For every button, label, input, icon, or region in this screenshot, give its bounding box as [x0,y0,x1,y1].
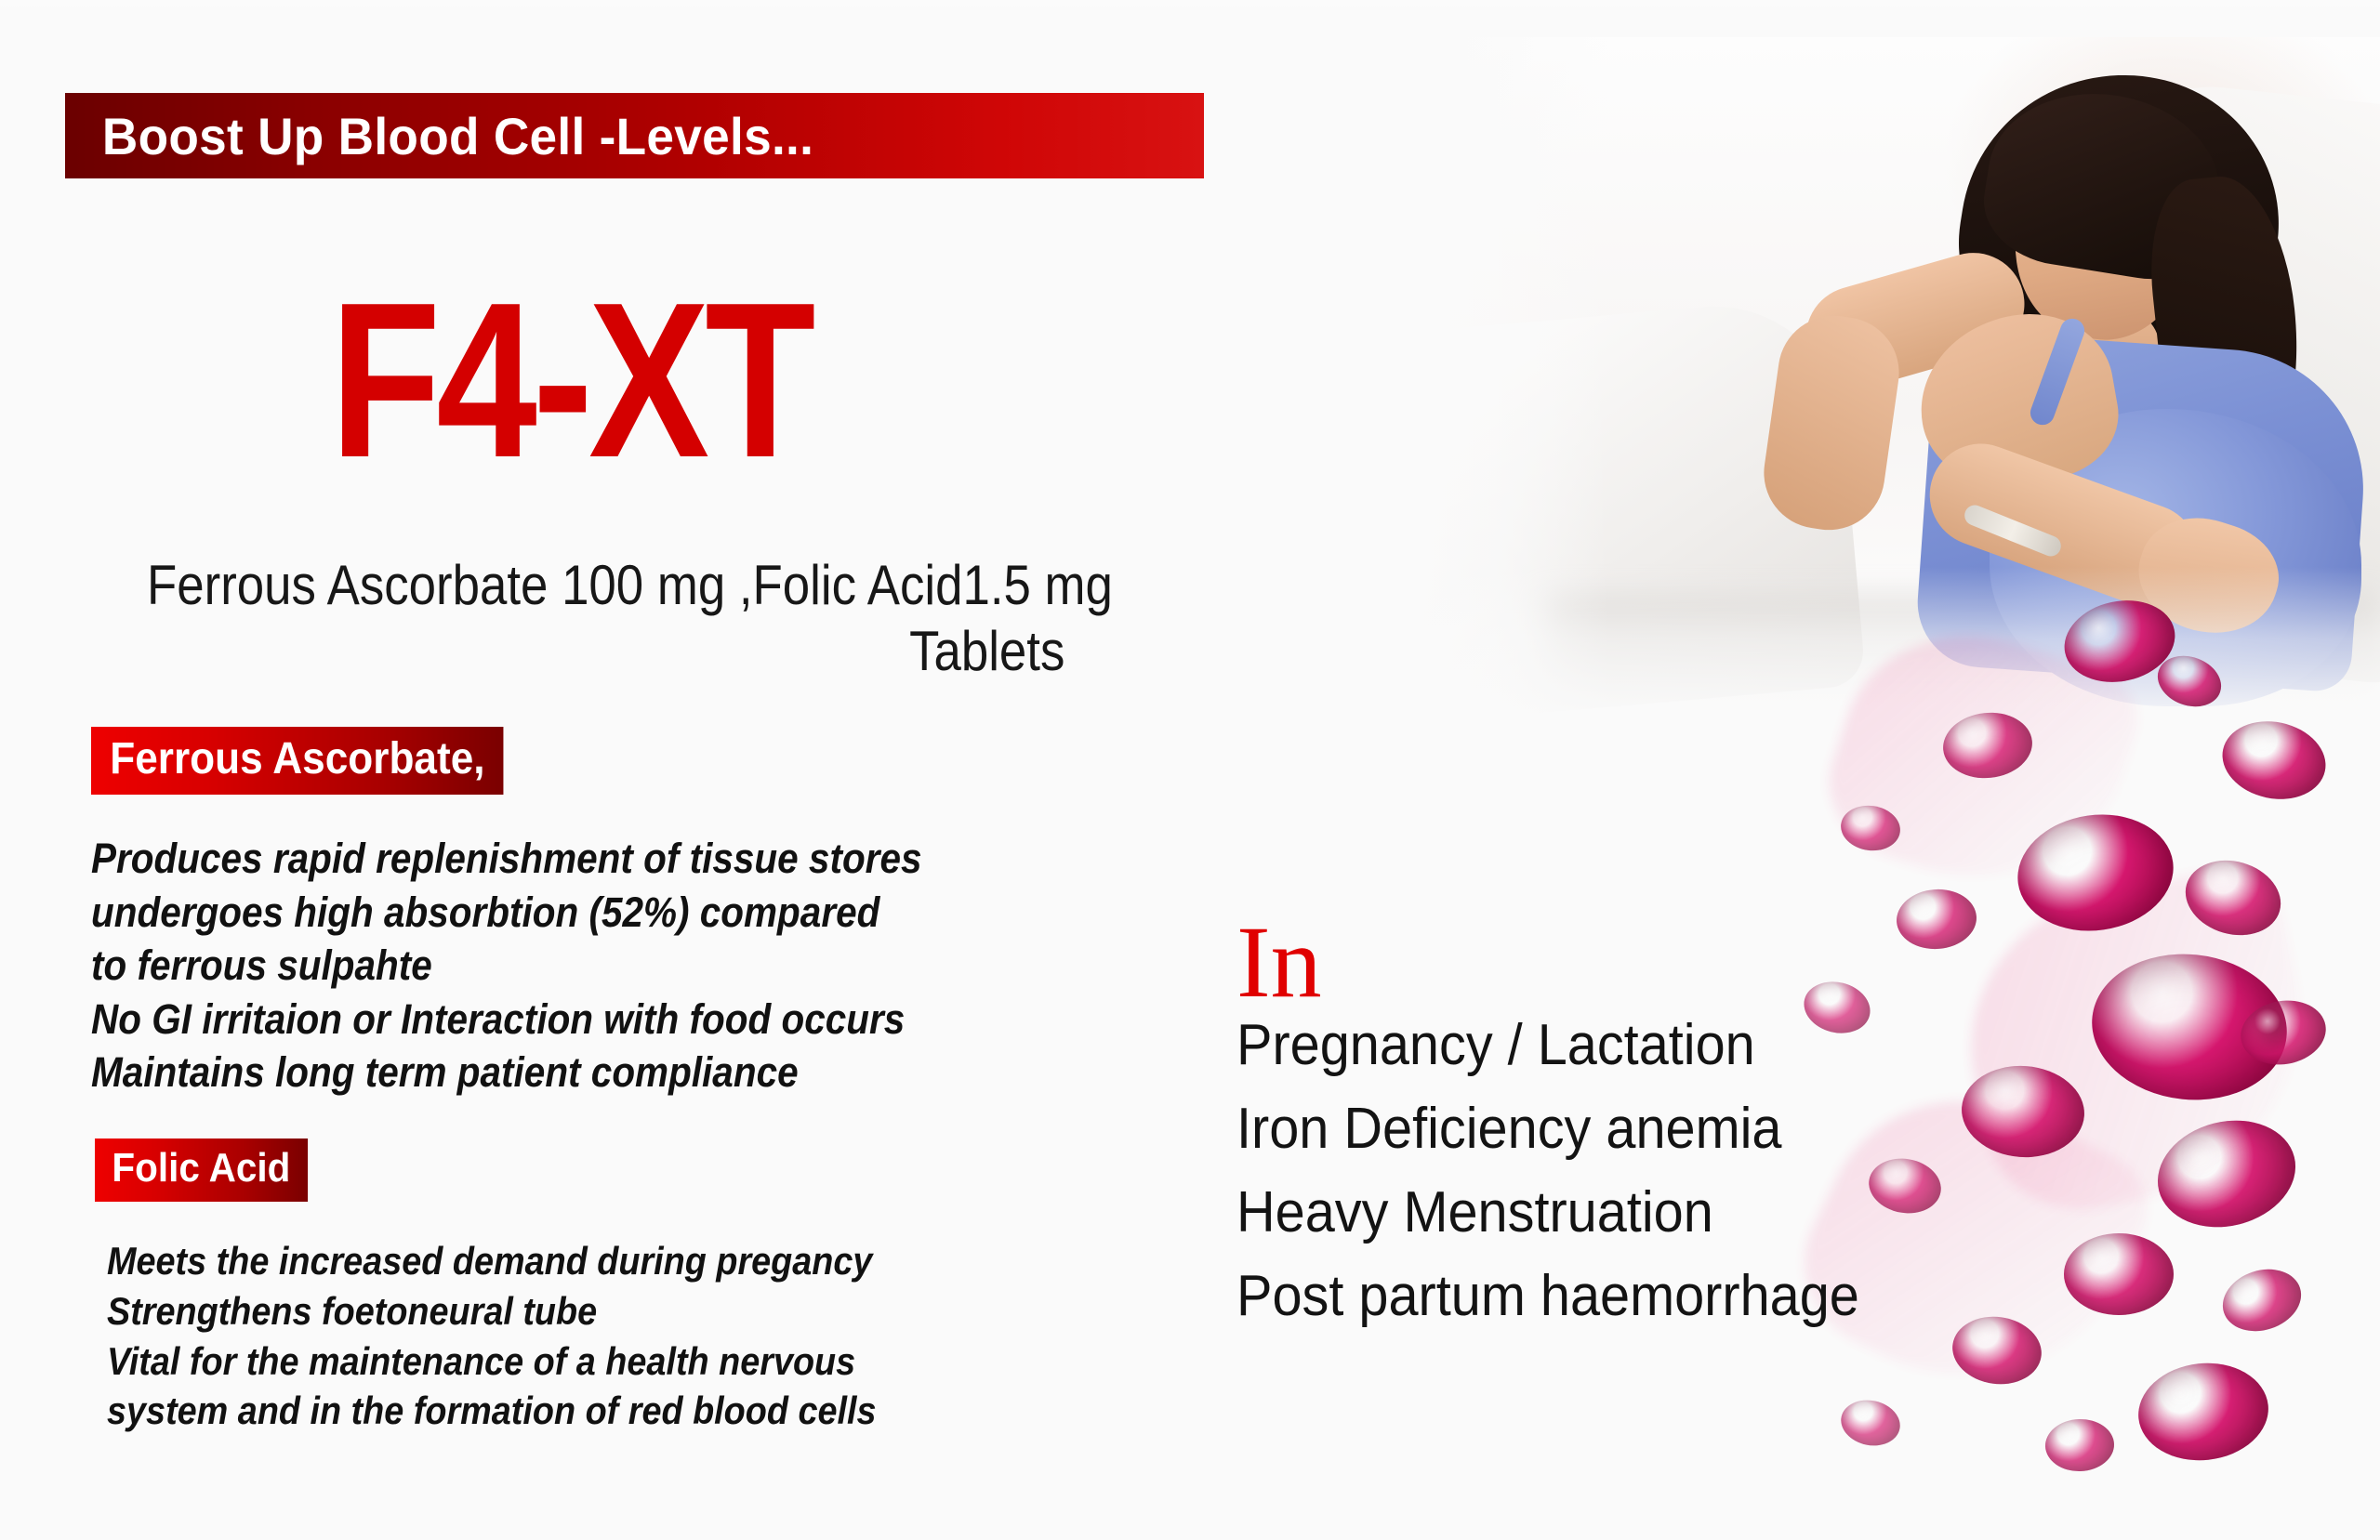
advertisement-page: Boost Up Blood Cell -Levels... F4-XT Fer… [0,0,2380,1540]
composition-line-1: Ferrous Ascorbate 100 mg ,Folic Acid1.5 … [147,553,1071,619]
top-bar-sheen [0,0,2380,13]
bullet-line: Maintains long term patient compliance [91,1046,922,1099]
indication-item: Post partum haemorrhage [1236,1268,1859,1325]
composition-line-2: Tablets [147,619,1071,685]
advertisement-canvas: Boost Up Blood Cell -Levels... F4-XT Fer… [0,37,2380,1475]
indications-heading: In [1236,915,1906,1009]
bullet-line: Strengthens foetoneural tube [107,1286,877,1336]
brand-block: F4-XT [330,290,917,471]
bullet-line: system and in the formation of red blood… [107,1386,877,1436]
blood-cell [2215,1259,2309,1340]
blood-cell [2064,1233,2174,1315]
section-label-ferrous-ascorbate: Ferrous Ascorbate, [91,727,504,795]
headline-banner: Boost Up Blood Cell -Levels... [65,93,1204,178]
blood-cell [2215,712,2334,808]
section-body-ferrous-ascorbate: Produces rapid replenishment of tissue s… [91,832,922,1099]
bullet-line: Vital for the maintenance of a health ne… [107,1336,877,1387]
brand-name: F4-XT [330,290,812,471]
bullet-line: No GI irritaion or Interaction with food… [91,993,922,1046]
bullet-line: Produces rapid replenishment of tissue s… [91,832,922,886]
section-body-folic-acid: Meets the increased demand during pregan… [107,1236,877,1436]
bullet-line: undergoes high absorbtion (52%) compared [91,886,922,940]
blood-cell [2044,1418,2115,1473]
indication-item: Pregnancy / Lactation [1236,1017,1859,1074]
composition-block: Ferrous Ascorbate 100 mg ,Folic Acid1.5 … [147,553,1071,685]
blood-cell [1895,887,1978,952]
bullet-line: to ferrous sulpahte [91,939,922,993]
bullet-line: Meets the increased demand during pregan… [107,1236,877,1286]
section-label-folic-acid: Folic Acid [95,1139,308,1202]
blood-cell [1837,1395,1905,1451]
blood-cell [2134,1357,2273,1467]
headline-text: Boost Up Blood Cell -Levels... [65,106,813,166]
indication-item: Iron Deficiency anemia [1236,1100,1859,1158]
indications-block: In Pregnancy / Lactation Iron Deficiency… [1236,915,1906,1325]
indication-item: Heavy Menstruation [1236,1184,1859,1242]
